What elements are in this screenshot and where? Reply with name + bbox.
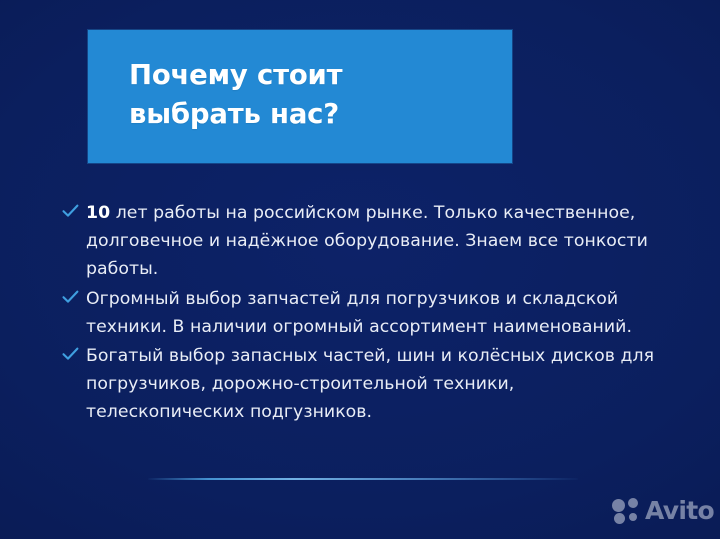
check-icon (62, 199, 86, 218)
list-item: Огромный выбор запчастей для погрузчиков… (62, 285, 662, 341)
avito-wordmark: Avito (645, 498, 714, 524)
benefits-list: 10 лет работы на российском рынке. Тольк… (62, 199, 662, 428)
list-item-body: Огромный выбор запчастей для погрузчиков… (86, 289, 632, 337)
list-item-text: Богатый выбор запасных частей, шин и кол… (86, 342, 656, 427)
check-icon (62, 285, 86, 304)
avito-watermark: Avito (612, 498, 714, 524)
divider (148, 478, 578, 480)
avito-dots-icon (612, 498, 640, 524)
list-item: 10 лет работы на российском рынке. Тольк… (62, 199, 662, 284)
list-item-text: 10 лет работы на российском рынке. Тольк… (86, 199, 656, 284)
title-panel: Почему стоит выбрать нас? (88, 30, 512, 163)
list-item-lead: 10 (86, 203, 110, 223)
list-item: Богатый выбор запасных частей, шин и кол… (62, 342, 662, 427)
list-item-text: Огромный выбор запчастей для погрузчиков… (86, 285, 656, 341)
list-item-body: Богатый выбор запасных частей, шин и кол… (86, 346, 654, 422)
list-item-body: лет работы на российском рынке. Только к… (86, 203, 648, 279)
slide-canvas: Почему стоит выбрать нас? 10 лет работы … (0, 0, 720, 539)
page-title: Почему стоит выбрать нас? (129, 56, 489, 134)
check-icon (62, 342, 86, 361)
